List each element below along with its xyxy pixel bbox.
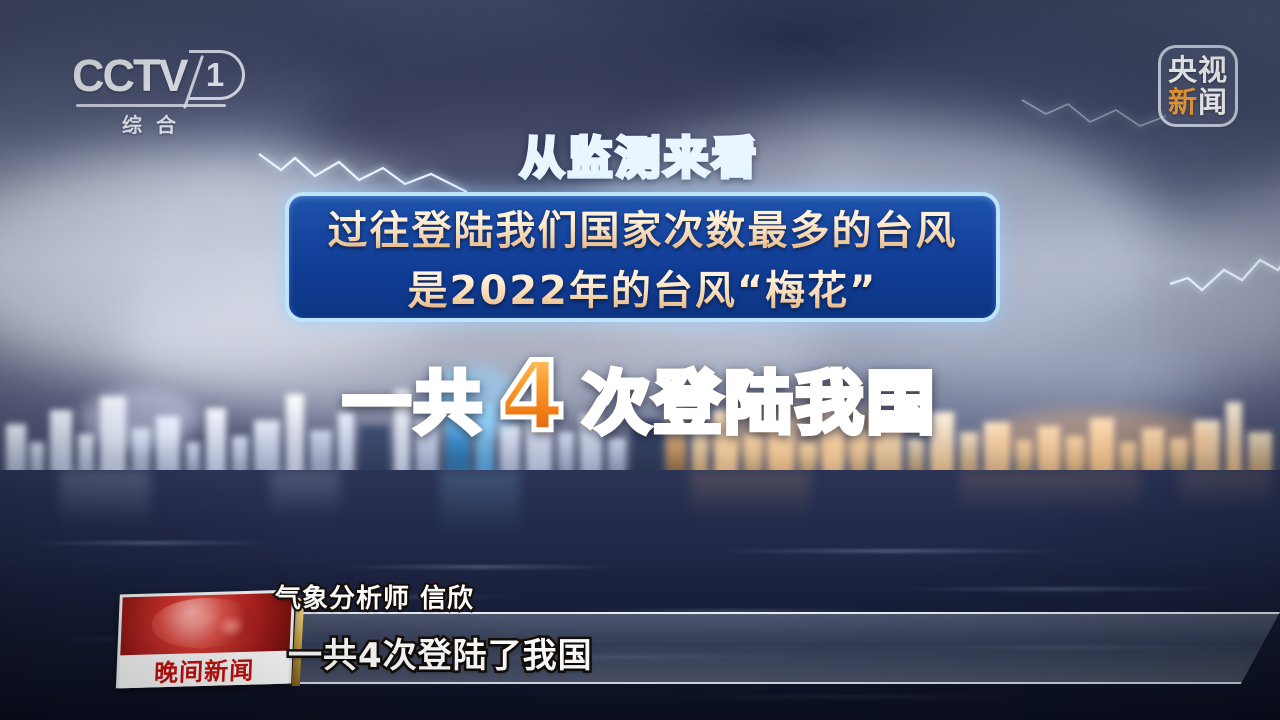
- broadcast-screenshot: CCTV 1 综合 央视 新闻 从监测来看 过往登陆我们国家次数最多的台风 是2…: [0, 0, 1280, 720]
- emphasis-suffix: 次登陆我国: [582, 348, 937, 447]
- cctv-news-badge: 央视 新闻: [1158, 45, 1238, 127]
- speaker-role-label: 气象分析师 信欣: [275, 578, 474, 615]
- headline-kicker: 从监测来看: [0, 122, 1280, 186]
- emphasis-number: 4: [499, 352, 569, 443]
- headline-banner: 过往登陆我们国家次数最多的台风 是2022年的台风“梅花”: [285, 192, 1000, 322]
- headline-emphasis-line: 一共 4 次登陆我国: [0, 348, 1280, 447]
- logo-underline: [76, 104, 226, 107]
- news-badge-line2-orange: 新: [1168, 85, 1198, 119]
- program-name: 晚间新闻: [119, 651, 290, 689]
- lightning-bolt-icon: [1168, 240, 1280, 302]
- news-badge-line1: 央视: [1168, 55, 1228, 85]
- program-logo: 晚间新闻: [116, 590, 295, 689]
- banner-line-2: 是2022年的台风“梅花”: [408, 258, 878, 316]
- emphasis-prefix: 一共: [343, 348, 485, 447]
- news-badge-line2-white: 闻: [1198, 85, 1228, 119]
- banner-line-1: 过往登陆我们国家次数最多的台风: [328, 198, 958, 256]
- globe-icon: [120, 593, 292, 656]
- cctv-wordmark: CCTV: [72, 53, 187, 98]
- subtitle-text: 一共4次登陆了我国: [288, 628, 593, 677]
